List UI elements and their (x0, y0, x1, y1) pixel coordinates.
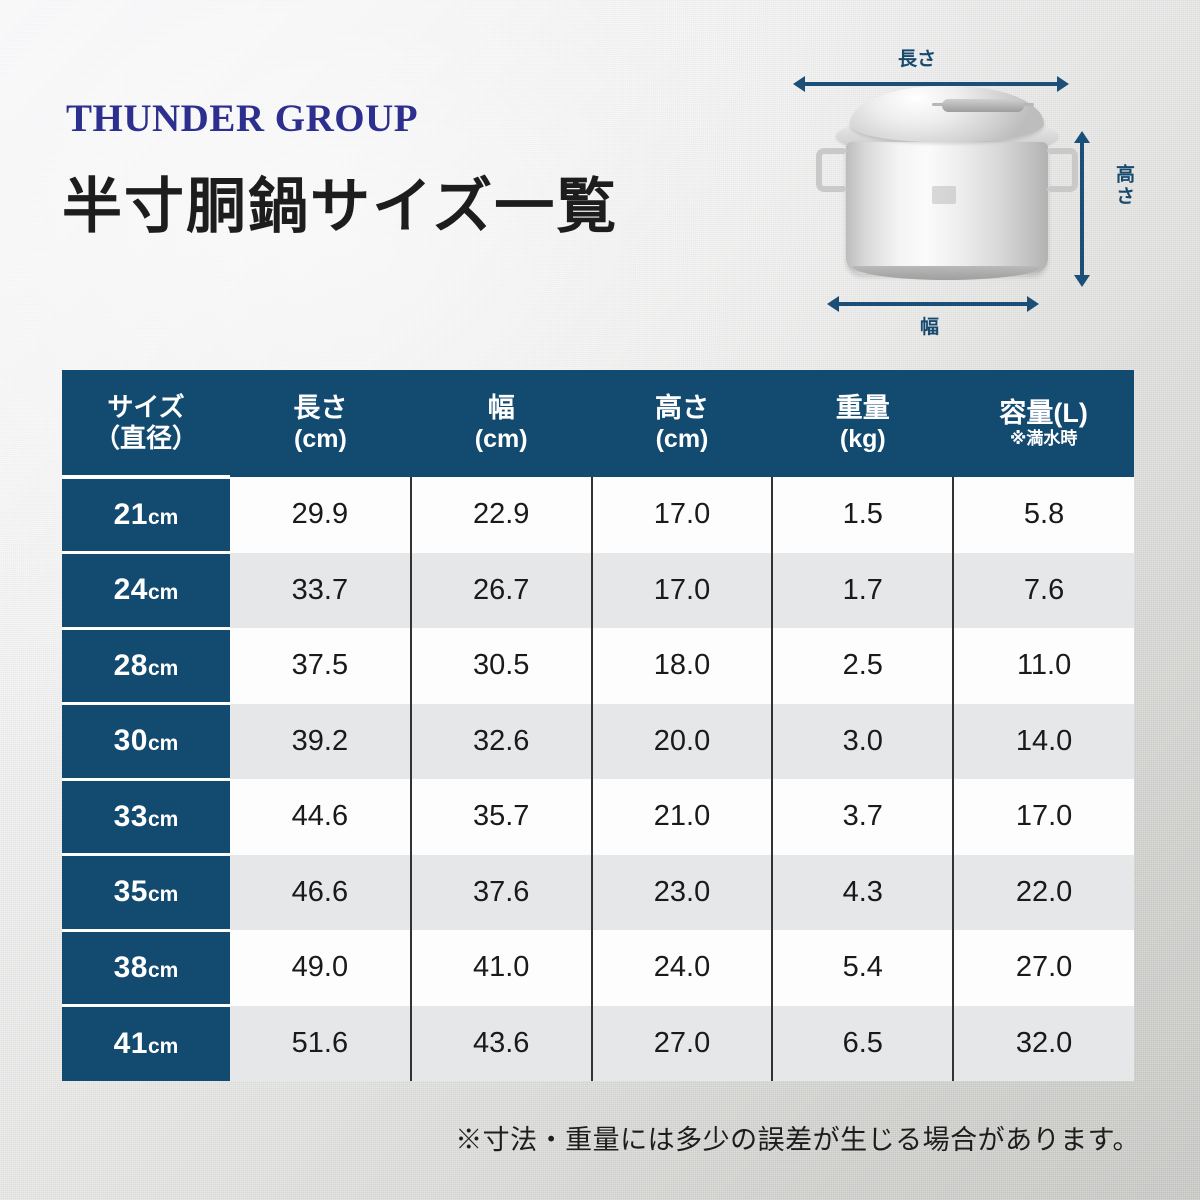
column-header-size-line1: サイズ (62, 392, 230, 423)
table-body: 21cm29.922.917.01.55.824cm33.726.717.01.… (62, 477, 1134, 1081)
cell-width: 26.7 (411, 553, 592, 629)
column-header-weight-line2: (kg) (772, 425, 953, 455)
cell-size-unit: cm (148, 808, 178, 831)
cell-capacity: 7.6 (953, 553, 1134, 629)
table-row: 21cm29.922.917.01.55.8 (62, 477, 1134, 553)
cell-length: 39.2 (230, 704, 411, 780)
dimension-arrow-height-icon (1080, 142, 1084, 276)
cell-size-number: 24 (114, 573, 148, 606)
dimension-label-length: 長さ (898, 44, 936, 71)
cell-size-unit: cm (148, 1035, 178, 1058)
column-header-height-line1: 高さ (592, 393, 773, 425)
column-header-weight-line1: 重量 (772, 393, 953, 425)
table-row: 30cm39.232.620.03.014.0 (62, 704, 1134, 780)
cell-size: 41cm (62, 1006, 230, 1082)
pot-handle-right (1044, 148, 1078, 192)
column-header-length-line1: 長さ (230, 393, 411, 425)
pot-handle-left (816, 148, 850, 192)
table-row: 35cm46.637.623.04.322.0 (62, 855, 1134, 931)
cell-capacity: 32.0 (953, 1006, 1134, 1082)
cell-size: 30cm (62, 704, 230, 780)
dimension-arrow-width-icon (838, 302, 1028, 306)
column-header-size: サイズ （直径） (62, 370, 230, 477)
pot-body (846, 142, 1048, 274)
cell-weight: 1.5 (772, 477, 953, 553)
table-row: 33cm44.635.721.03.717.0 (62, 779, 1134, 855)
cell-capacity: 14.0 (953, 704, 1134, 780)
cell-height: 20.0 (592, 704, 773, 780)
cell-capacity: 27.0 (953, 930, 1134, 1006)
cell-size-number: 38 (114, 951, 148, 984)
dimension-arrow-length-icon (804, 82, 1058, 86)
cell-size-unit: cm (148, 506, 178, 529)
column-header-width: 幅 (cm) (411, 370, 592, 477)
table-header-row: サイズ （直径） 長さ (cm) 幅 (cm) 高さ (cm) 重量 (kg) … (62, 370, 1134, 477)
table-row: 28cm37.530.518.02.511.0 (62, 628, 1134, 704)
column-header-length: 長さ (cm) (230, 370, 411, 477)
cell-size-number: 21 (114, 498, 148, 531)
cell-width: 37.6 (411, 855, 592, 931)
column-header-width-line2: (cm) (411, 425, 592, 455)
cell-capacity: 11.0 (953, 628, 1134, 704)
cell-size-number: 28 (114, 649, 148, 682)
cell-weight: 2.5 (772, 628, 953, 704)
cell-weight: 3.7 (772, 779, 953, 855)
cell-size: 35cm (62, 855, 230, 931)
column-header-capacity-line1: 容量(L) (953, 398, 1134, 430)
cell-weight: 1.7 (772, 553, 953, 629)
table-row: 24cm33.726.717.01.77.6 (62, 553, 1134, 629)
column-header-height-line2: (cm) (592, 425, 773, 455)
table-row: 41cm51.643.627.06.532.0 (62, 1006, 1134, 1082)
pot-bottom (852, 266, 1042, 280)
column-header-length-line2: (cm) (230, 425, 411, 455)
cell-height: 17.0 (592, 553, 773, 629)
cell-length: 51.6 (230, 1006, 411, 1082)
cell-size: 33cm (62, 779, 230, 855)
cell-height: 17.0 (592, 477, 773, 553)
brand-logotype: THUNDER GROUP (66, 96, 418, 141)
cell-capacity: 17.0 (953, 779, 1134, 855)
cell-size-number: 33 (114, 800, 148, 833)
pot-lid (850, 86, 1044, 142)
cell-length: 29.9 (230, 477, 411, 553)
cell-length: 49.0 (230, 930, 411, 1006)
table-header: サイズ （直径） 長さ (cm) 幅 (cm) 高さ (cm) 重量 (kg) … (62, 370, 1134, 477)
cell-size-number: 30 (114, 724, 148, 757)
cell-size-number: 35 (114, 875, 148, 908)
column-header-height: 高さ (cm) (592, 370, 773, 477)
cell-width: 43.6 (411, 1006, 592, 1082)
cell-size-unit: cm (148, 657, 178, 680)
column-header-capacity-note: ※満水時 (953, 429, 1134, 449)
column-header-width-line1: 幅 (411, 393, 592, 425)
product-dimension-diagram: 長さ 高さ 幅 (780, 34, 1180, 334)
size-specification-table: サイズ （直径） 長さ (cm) 幅 (cm) 高さ (cm) 重量 (kg) … (62, 370, 1134, 1081)
cell-height: 24.0 (592, 930, 773, 1006)
cell-length: 37.5 (230, 628, 411, 704)
cell-width: 32.6 (411, 704, 592, 780)
cell-height: 23.0 (592, 855, 773, 931)
cell-width: 41.0 (411, 930, 592, 1006)
pot-lid-knob (942, 99, 1024, 112)
stock-pot-illustration (814, 86, 1080, 288)
pot-brand-stamp-icon (932, 186, 956, 204)
cell-weight: 3.0 (772, 704, 953, 780)
cell-capacity: 22.0 (953, 855, 1134, 931)
cell-size: 38cm (62, 930, 230, 1006)
cell-size: 24cm (62, 553, 230, 629)
cell-size: 21cm (62, 477, 230, 553)
dimension-label-width: 幅 (920, 312, 939, 339)
disclaimer-note: ※寸法・重量には多少の誤差が生じる場合があります。 (0, 1118, 1140, 1157)
cell-size: 28cm (62, 628, 230, 704)
cell-width: 22.9 (411, 477, 592, 553)
cell-capacity: 5.8 (953, 477, 1134, 553)
cell-height: 18.0 (592, 628, 773, 704)
column-header-size-line2: （直径） (62, 423, 230, 454)
cell-length: 33.7 (230, 553, 411, 629)
cell-weight: 4.3 (772, 855, 953, 931)
cell-size-number: 41 (114, 1027, 148, 1060)
column-header-weight: 重量 (kg) (772, 370, 953, 477)
cell-size-unit: cm (148, 732, 178, 755)
dimension-label-height: 高さ (1110, 164, 1137, 208)
table-row: 38cm49.041.024.05.427.0 (62, 930, 1134, 1006)
cell-width: 30.5 (411, 628, 592, 704)
cell-height: 21.0 (592, 779, 773, 855)
cell-length: 46.6 (230, 855, 411, 931)
cell-size-unit: cm (148, 959, 178, 982)
cell-height: 27.0 (592, 1006, 773, 1082)
cell-size-unit: cm (148, 581, 178, 604)
cell-weight: 5.4 (772, 930, 953, 1006)
column-header-capacity: 容量(L) ※満水時 (953, 370, 1134, 477)
cell-size-unit: cm (148, 883, 178, 906)
cell-length: 44.6 (230, 779, 411, 855)
page-title: 半寸胴鍋サイズ一覧 (62, 158, 618, 245)
cell-width: 35.7 (411, 779, 592, 855)
cell-weight: 6.5 (772, 1006, 953, 1082)
